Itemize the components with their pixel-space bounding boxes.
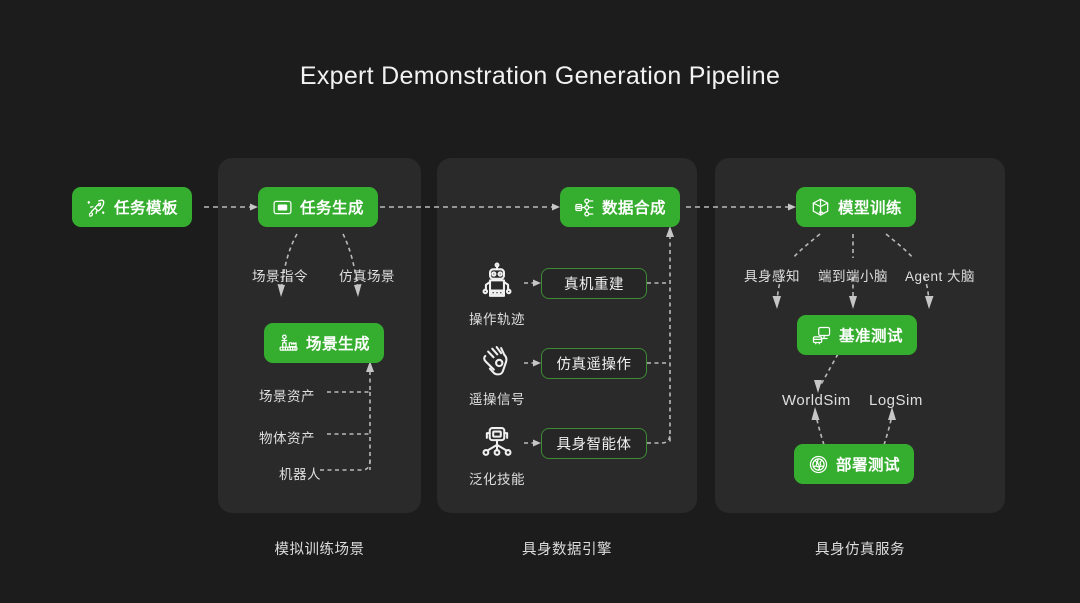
- icon-label-teleoperation-signal: 遥操信号: [465, 388, 529, 408]
- sim-label-logsim: LogSim: [869, 392, 923, 409]
- node-data-synthesis[interactable]: 数据合成: [560, 187, 680, 227]
- rocket-icon: [86, 197, 107, 218]
- pl-frame-icon: PL: [272, 197, 293, 218]
- icon-label-generalized-skill: 泛化技能: [465, 468, 529, 488]
- node-deployment-test[interactable]: 部署测试: [794, 444, 914, 484]
- node-benchmark-test[interactable]: 基准测试: [797, 315, 917, 355]
- cube-train-icon: [810, 197, 831, 218]
- node-scene-generation[interactable]: 场景生成: [264, 323, 384, 363]
- node-label: 部署测试: [836, 453, 900, 475]
- panel-caption-1: 模拟训练场景: [218, 538, 421, 559]
- box-simulated-teleoperation[interactable]: 仿真遥操作: [541, 348, 647, 379]
- robot-icon: [478, 262, 516, 300]
- box-label: 真机重建: [564, 273, 624, 294]
- node-label: 模型训练: [838, 196, 902, 218]
- node-label: 任务模板: [114, 196, 178, 218]
- input-label-robot: 机器人: [279, 463, 321, 483]
- panel-caption-3: 具身仿真服务: [715, 538, 1005, 559]
- node-label: 基准测试: [839, 324, 903, 346]
- scene-factory-icon: [278, 333, 299, 354]
- pipeline-diagram: Expert Demonstration Generation Pipeline: [0, 0, 1080, 603]
- edge-label-agent-brain: Agent 大脑: [905, 265, 975, 285]
- agent-network-icon: [478, 423, 516, 461]
- panel-caption-2: 具身数据引擎: [437, 538, 697, 559]
- node-label: 数据合成: [602, 196, 666, 218]
- box-label: 具身智能体: [557, 433, 632, 454]
- edge-label-embodied-perception: 具身感知: [744, 265, 800, 285]
- box-real-machine-reconstruction[interactable]: 真机重建: [541, 268, 647, 299]
- input-label-object-asset: 物体资产: [259, 427, 315, 447]
- sim-label-worldsim: WorldSim: [782, 392, 851, 409]
- box-embodied-agent[interactable]: 具身智能体: [541, 428, 647, 459]
- edge-label-simulated-scene: 仿真场景: [327, 265, 407, 285]
- svg-text:PL: PL: [279, 205, 286, 211]
- box-label: 仿真遥操作: [557, 353, 632, 374]
- page-title: Expert Demonstration Generation Pipeline: [0, 62, 1080, 91]
- benchmark-screen-icon: [811, 325, 832, 346]
- deploy-globe-icon: [808, 454, 829, 475]
- node-task-generation[interactable]: PL 任务生成: [258, 187, 378, 227]
- node-label: 任务生成: [300, 196, 364, 218]
- edge-label-end-to-end-cerebellum: 端到端小脑: [818, 265, 888, 285]
- input-label-scene-asset: 场景资产: [259, 385, 315, 405]
- node-model-training[interactable]: 模型训练: [796, 187, 916, 227]
- glove-icon: [478, 343, 516, 381]
- edge-label-scene-instruction: 场景指令: [240, 265, 320, 285]
- icon-label-operation-trajectory: 操作轨迹: [465, 308, 529, 328]
- node-task-template[interactable]: 任务模板: [72, 187, 192, 227]
- node-label: 场景生成: [306, 332, 370, 354]
- data-sync-icon: [574, 197, 595, 218]
